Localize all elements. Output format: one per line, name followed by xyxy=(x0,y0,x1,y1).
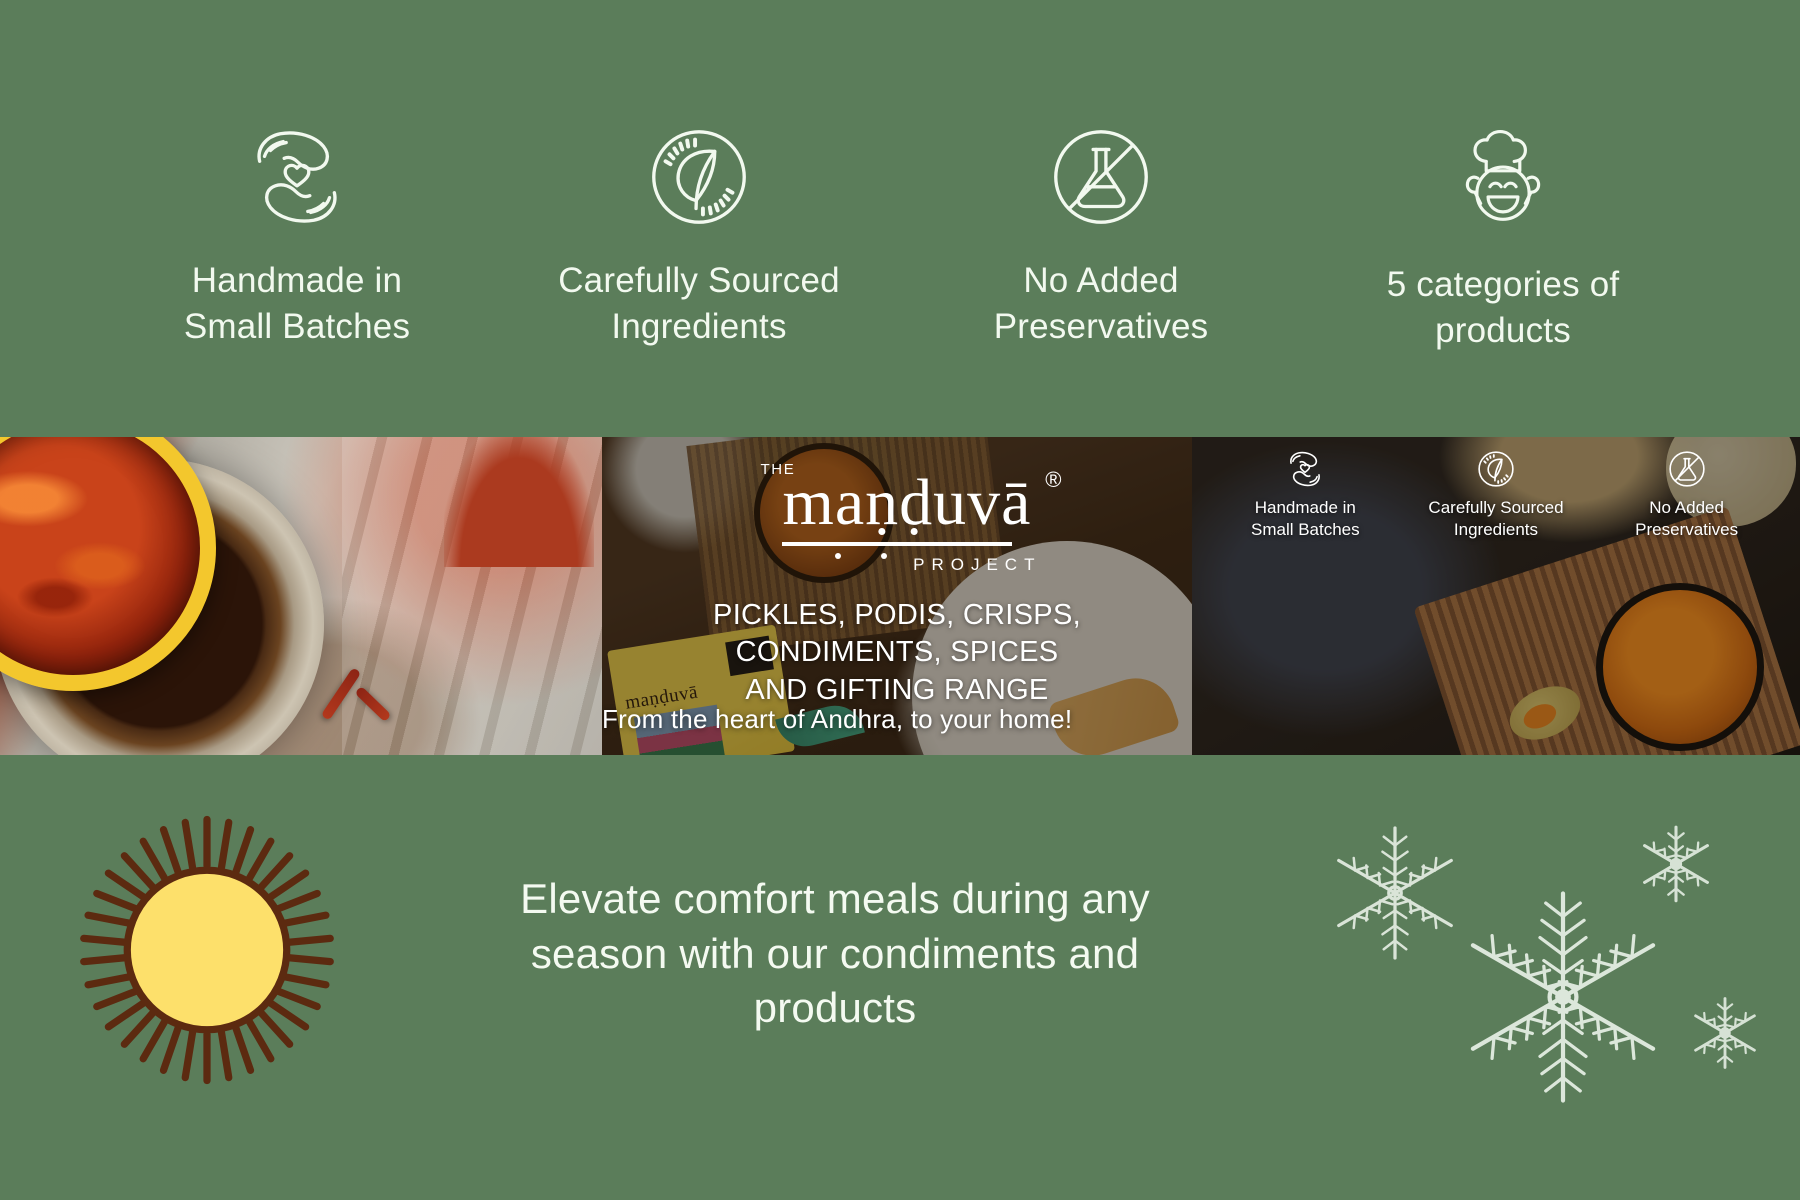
season-headline: Elevate comfort meals during any season … xyxy=(420,872,1250,1036)
mini-badge-line1: Handmade in xyxy=(1251,497,1360,519)
feature-label: Handmade in Small Batches xyxy=(184,258,410,350)
snowflake-icon xyxy=(1320,818,1470,968)
leaf-in-circle-icon xyxy=(640,118,758,236)
snowflake-icon xyxy=(1448,882,1678,1112)
logo-rule xyxy=(782,542,1012,546)
caring-hands-heart-icon xyxy=(238,118,356,236)
feature-label-line2: products xyxy=(1387,308,1620,354)
feature-label: No Added Preservatives xyxy=(994,258,1209,350)
mini-badge-line2: Ingredients xyxy=(1428,519,1563,541)
brand-name: maṇḍuvā xyxy=(753,459,1042,540)
season-headline-line3: products xyxy=(420,981,1250,1036)
feature-label: 5 categories of products xyxy=(1387,262,1620,354)
feature-label-line1: No Added xyxy=(994,258,1209,304)
mini-badge-no-preservatives: No Added Preservatives xyxy=(1601,447,1773,541)
banner-right-photo: Handmade in Small Batches xyxy=(1192,437,1800,755)
mini-badge-handmade: Handmade in Small Batches xyxy=(1219,447,1391,541)
feature-label-line2: Preservatives xyxy=(994,304,1209,350)
snowflake-icon xyxy=(1682,990,1768,1076)
banner-tagline-line2: AND GIFTING RANGE xyxy=(607,672,1187,710)
no-chemical-flask-icon xyxy=(1665,447,1709,491)
banner-band: maṇḍuvā THE maṇḍuvā ® PROJECT PICKLES xyxy=(0,437,1800,755)
banner-left-photo xyxy=(0,437,602,755)
banner-tagline: PICKLES, PODIS, CRISPS, CONDIMENTS, SPIC… xyxy=(607,597,1187,710)
feature-item-sourced: Carefully Sourced Ingredients xyxy=(498,118,900,350)
registered-mark: ® xyxy=(1045,467,1061,493)
banner-tagline-line1: PICKLES, PODIS, CRISPS, CONDIMENTS, SPIC… xyxy=(607,597,1187,672)
no-chemical-flask-icon xyxy=(1042,118,1160,236)
mini-badge-label: Carefully Sourced Ingredients xyxy=(1428,497,1563,541)
feature-label-line1: 5 categories of xyxy=(1387,262,1620,308)
mini-badge-label: Handmade in Small Batches xyxy=(1251,497,1360,541)
leaf-in-circle-icon xyxy=(1474,447,1518,491)
feature-label-line2: Small Batches xyxy=(184,304,410,350)
promo-page: Handmade in Small Batches xyxy=(0,0,1800,1200)
mini-badge-line2: Small Batches xyxy=(1251,519,1360,541)
chef-smiley-icon xyxy=(1444,126,1562,244)
feature-label: Carefully Sourced Ingredients xyxy=(558,258,840,350)
feature-item-categories: 5 categories of products xyxy=(1302,118,1704,354)
mini-badge-line1: Carefully Sourced xyxy=(1428,497,1563,519)
snowflake-cluster xyxy=(1330,830,1770,1100)
mini-badge-sourced: Carefully Sourced Ingredients xyxy=(1410,447,1582,541)
feature-band: Handmade in Small Batches xyxy=(0,0,1800,437)
mini-badge-line1: No Added xyxy=(1635,497,1738,519)
brand-project: PROJECT xyxy=(837,555,1042,575)
sun-icon xyxy=(62,805,352,1095)
mini-badge-label: No Added Preservatives xyxy=(1635,497,1738,541)
banner-brand-panel: maṇḍuvā THE maṇḍuvā ® PROJECT PICKLES xyxy=(602,437,1192,755)
feature-label-line2: Ingredients xyxy=(558,304,840,350)
feature-item-handmade: Handmade in Small Batches xyxy=(96,118,498,350)
snowflake-icon xyxy=(1630,818,1722,910)
banner-mini-badges: Handmade in Small Batches xyxy=(1192,447,1800,541)
brand-logo: THE maṇḍuvā ® PROJECT xyxy=(753,459,1042,575)
season-headline-line1: Elevate comfort meals during any xyxy=(420,872,1250,927)
feature-item-no-preservatives: No Added Preservatives xyxy=(900,118,1302,350)
caring-hands-heart-icon xyxy=(1283,447,1327,491)
mini-badge-line2: Preservatives xyxy=(1635,519,1738,541)
season-headline-line2: season with our condiments and xyxy=(420,927,1250,982)
feature-label-line1: Handmade in xyxy=(184,258,410,304)
feature-label-line1: Carefully Sourced xyxy=(558,258,840,304)
